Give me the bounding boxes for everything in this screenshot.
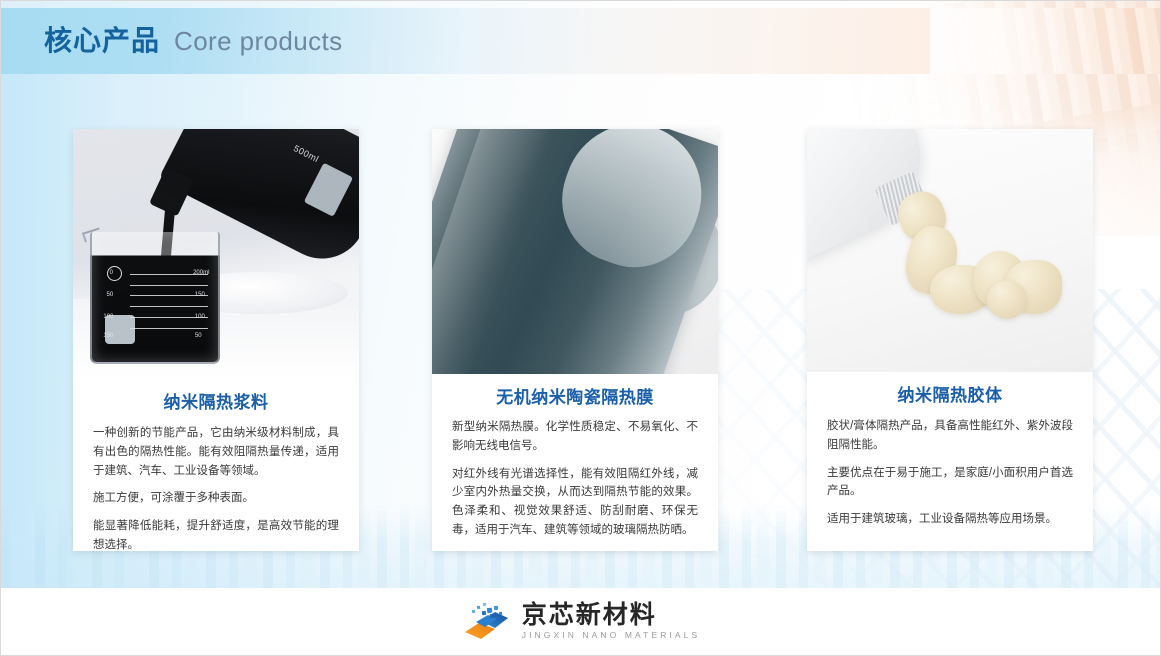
bottle-label-patch: [304, 163, 353, 217]
ceramic-insulating-film-photo: [432, 129, 718, 374]
product-card-body-gel: 纳米隔热胶体 胶状/膏体隔热产品，具备高性能红外、紫外波段阻隔性能。 主要优点在…: [807, 372, 1093, 551]
nano-insulating-slurry-photo: 500ml 0 50 100: [73, 129, 359, 379]
product-desc-paragraph: 一种创新的节能产品，它由纳米级材料制成，具有出色的隔热性能。能有效阻隔热量传递，…: [93, 424, 339, 480]
product-card-body-slurry: 纳米隔热浆料 一种创新的节能产品，它由纳米级材料制成，具有出色的隔热性能。能有效…: [73, 379, 359, 551]
product-title-slurry: 纳米隔热浆料: [93, 393, 339, 413]
slide-canvas: 核心产品 Core products 500ml: [0, 0, 1161, 656]
company-name-en: JINGXIN NANO MATERIALS: [522, 631, 701, 640]
product-desc-paragraph: 主要优点在于易于施工，是家庭/小面积用户首选产品。: [827, 464, 1073, 501]
product-card-film[interactable]: 无机纳米陶瓷隔热膜 新型纳米隔热膜。化学性质稳定、不易氧化、不影响无线电信号。 …: [432, 129, 718, 551]
beaker-label-left-50: 50: [107, 292, 114, 298]
product-title-gel: 纳米隔热胶体: [827, 386, 1073, 406]
beaker-label-left-100: 100: [103, 314, 113, 320]
header-title-row: 核心产品 Core products: [1, 8, 1160, 74]
product-desc-paragraph: 新型纳米隔热膜。化学性质稳定、不易氧化、不影响无线电信号。: [452, 418, 698, 455]
product-desc-paragraph: 胶状/膏体隔热产品，具备高性能红外、紫外波段阻隔性能。: [827, 417, 1073, 454]
product-card-gel[interactable]: 纳米隔热胶体 胶状/膏体隔热产品，具备高性能红外、紫外波段阻隔性能。 主要优点在…: [807, 129, 1093, 551]
slurry-photo-scene: 500ml 0 50 100: [73, 129, 359, 379]
product-desc-paragraph: 对红外线有光谱选择性，能有效阻隔红外线，减少室内外热量交换，从而达到隔热节能的效…: [452, 465, 698, 540]
beaker-label-right-100: 100: [195, 314, 205, 320]
product-card-body-film: 无机纳米陶瓷隔热膜 新型纳米隔热膜。化学性质稳定、不易氧化、不影响无线电信号。 …: [432, 374, 718, 551]
beaker-label-left-150: 150: [103, 333, 113, 339]
beaker-label-right-50: 50: [195, 333, 202, 339]
product-card-row: 500ml 0 50 100: [1, 129, 1160, 553]
beaker-spout: [82, 227, 102, 242]
gel-photo-scene: [807, 129, 1093, 372]
product-desc-paragraph: 能显著降低能耗，提升舒适度，是高效节能的理想选择。: [93, 517, 339, 551]
beaker-label-left-0: 0: [110, 270, 113, 276]
product-title-film: 无机纳米陶瓷隔热膜: [452, 388, 698, 408]
slide-footer: 京芯新材料 JINGXIN NANO MATERIALS: [1, 588, 1160, 655]
company-logo-text: 京芯新材料 JINGXIN NANO MATERIALS: [522, 603, 701, 640]
page-title-cn: 核心产品: [44, 27, 160, 55]
product-card-slurry[interactable]: 500ml 0 50 100: [73, 129, 359, 551]
slide-header-band: 核心产品 Core products: [1, 8, 1160, 74]
product-desc-paragraph: 适用于建筑玻璃，工业设备隔热等应用场景。: [827, 510, 1073, 529]
page-title-en: Core products: [174, 28, 343, 54]
beaker-graduations: 0 50 100 150 200ml 150 100 50: [130, 271, 208, 339]
gel-paste-bead: [987, 280, 1027, 319]
nano-insulating-gel-photo: [807, 129, 1093, 372]
slurry-glass-beaker: 0 50 100 150 200ml 150 100 50: [90, 232, 220, 364]
company-logo: 京芯新材料 JINGXIN NANO MATERIALS: [461, 602, 701, 642]
film-photo-scene: [432, 129, 718, 374]
company-name-cn: 京芯新材料: [522, 603, 701, 628]
beaker-label-right-200: 200ml: [193, 270, 209, 276]
product-desc-paragraph: 施工方便，可涂覆于多种表面。: [93, 489, 339, 508]
pixel-mosaic-logo-icon: [461, 602, 511, 642]
bottle-volume-label: 500ml: [292, 143, 321, 164]
beaker-label-right-150: 150: [195, 292, 205, 298]
